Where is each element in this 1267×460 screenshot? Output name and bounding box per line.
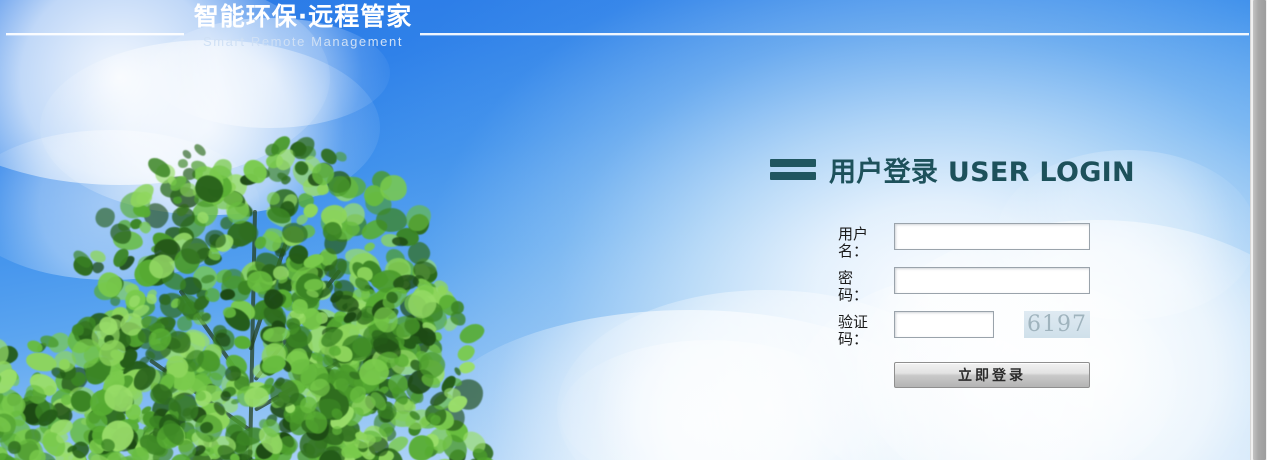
- brand: 智能环保·远程管家 Smart Remote Management: [186, 4, 420, 48]
- captcha-image[interactable]: 6197: [1024, 311, 1090, 338]
- login-title: 用户登录 USER LOGIN: [829, 150, 1135, 189]
- login-page: 智能环保·远程管家 Smart Remote Management 用户登录 U…: [0, 0, 1267, 460]
- submit-row: 立即登录: [838, 362, 1160, 388]
- username-input[interactable]: [894, 223, 1090, 250]
- password-label: 密 码：: [838, 267, 894, 304]
- login-button[interactable]: 立即登录: [894, 362, 1090, 388]
- username-row: 用户名：: [838, 223, 1160, 260]
- scrollbar-thumb[interactable]: [1253, 0, 1266, 460]
- login-header: 用户登录 USER LOGIN: [770, 150, 1160, 189]
- username-label: 用户名：: [838, 223, 894, 260]
- captcha-label: 验证码：: [838, 311, 894, 348]
- login-panel: 用户登录 USER LOGIN 用户名： 密 码： 验证码： 6197 立即登录: [770, 150, 1160, 395]
- brand-subtitle-en: Smart Remote Management: [186, 35, 420, 48]
- brand-title-cn: 智能环保·远程管家: [186, 4, 420, 29]
- password-row: 密 码：: [838, 267, 1160, 304]
- submit-spacer: [838, 362, 894, 365]
- vertical-scrollbar[interactable]: [1250, 0, 1267, 460]
- double-bar-icon: [770, 159, 816, 180]
- captcha-row: 验证码： 6197: [838, 311, 1160, 348]
- header-rule-right: [420, 33, 1249, 35]
- password-input[interactable]: [894, 267, 1090, 294]
- captcha-input[interactable]: [894, 311, 994, 338]
- header-rule-left: [6, 33, 184, 35]
- login-form: 用户名： 密 码： 验证码： 6197 立即登录: [770, 223, 1160, 388]
